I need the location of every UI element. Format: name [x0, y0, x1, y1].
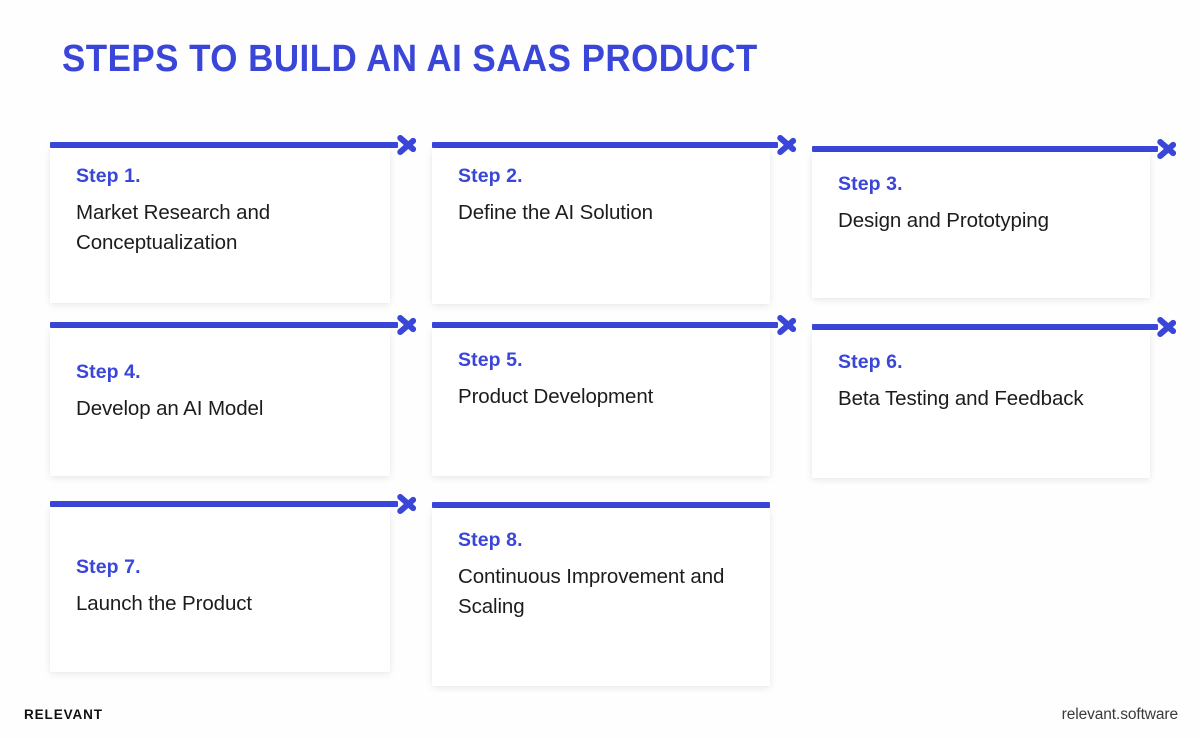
step-card-content: Step 2.Define the AI Solution: [458, 166, 756, 228]
step-description-8: Continuous Improvement and Scaling: [458, 562, 756, 620]
step-description-4: Develop an AI Model: [76, 394, 376, 423]
chevron-right-icon: [396, 128, 430, 162]
step-number-label-5: Step 5.: [458, 350, 756, 371]
step-number-label-8: Step 8.: [458, 530, 756, 551]
step-card-content: Step 7.Launch the Product: [76, 557, 376, 619]
step-description-5: Product Development: [458, 382, 756, 411]
step-number-label-6: Step 6.: [838, 352, 1136, 373]
step-description-6: Beta Testing and Feedback: [838, 384, 1136, 413]
chevron-right-icon: [396, 487, 430, 521]
step-card-7[interactable]: Step 7.Launch the Product: [50, 507, 390, 672]
chevron-right-icon: [776, 128, 810, 162]
chevron-right-icon: [776, 308, 810, 342]
step-number-label-3: Step 3.: [838, 174, 1136, 195]
step-card-2[interactable]: Step 2.Define the AI Solution: [432, 148, 770, 304]
step-number-label-1: Step 1.: [76, 166, 376, 187]
chevron-right-icon: [396, 308, 430, 342]
step-card-content: Step 8.Continuous Improvement and Scalin…: [458, 530, 756, 621]
step-description-3: Design and Prototyping: [838, 206, 1136, 235]
step-card-6[interactable]: Step 6.Beta Testing and Feedback: [812, 330, 1150, 478]
step-card-content: Step 4.Develop an AI Model: [76, 362, 376, 424]
footer-website-url[interactable]: relevant.software: [1062, 706, 1178, 724]
step-card-content: Step 5.Product Development: [458, 350, 756, 412]
steps-board: Step 1.Market Research and Conceptualiza…: [0, 0, 1200, 738]
step-description-2: Define the AI Solution: [458, 198, 756, 227]
step-card-5[interactable]: Step 5.Product Development: [432, 328, 770, 476]
step-card-content: Step 3.Design and Prototyping: [838, 174, 1136, 236]
chevron-right-icon: [1156, 132, 1190, 166]
step-card-3[interactable]: Step 3.Design and Prototyping: [812, 152, 1150, 298]
footer-brand-logo: RELEVANT: [24, 707, 103, 722]
step-card-content: Step 1.Market Research and Conceptualiza…: [76, 166, 376, 257]
step-description-7: Launch the Product: [76, 589, 376, 618]
step-number-label-4: Step 4.: [76, 362, 376, 383]
step-card-1[interactable]: Step 1.Market Research and Conceptualiza…: [50, 148, 390, 303]
step-description-1: Market Research and Conceptualization: [76, 198, 376, 256]
chevron-right-icon: [1156, 310, 1190, 344]
step-number-label-2: Step 2.: [458, 166, 756, 187]
step-card-8[interactable]: Step 8.Continuous Improvement and Scalin…: [432, 508, 770, 686]
step-card-4[interactable]: Step 4.Develop an AI Model: [50, 328, 390, 476]
step-number-label-7: Step 7.: [76, 557, 376, 578]
step-card-content: Step 6.Beta Testing and Feedback: [838, 352, 1136, 414]
